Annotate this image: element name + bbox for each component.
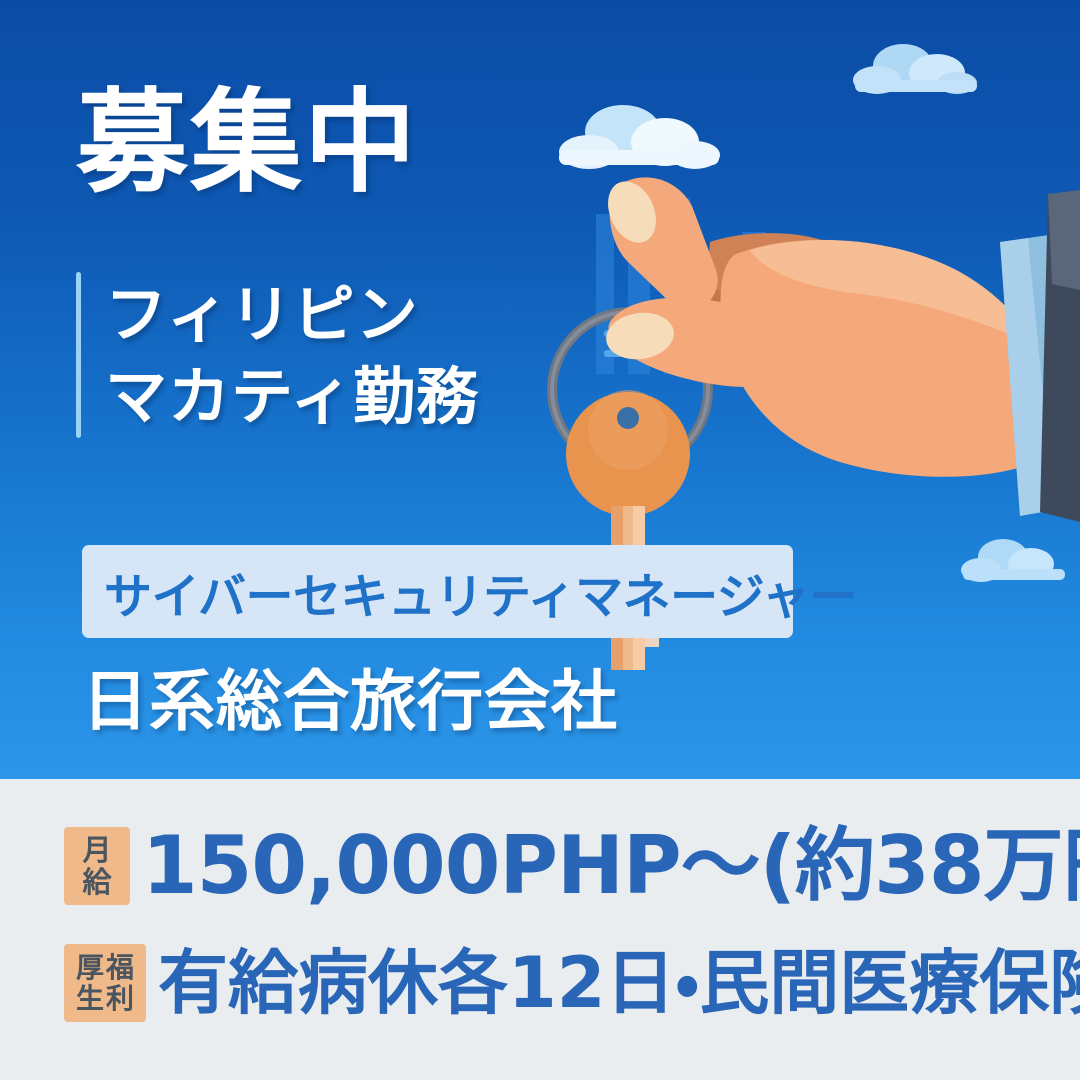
benefits-tag-char-2: 福 <box>106 952 134 983</box>
job-posting-poster: 募集中 フィリピン マカティ勤務 サイバーセキュリティマネージャー 日系総合旅行… <box>0 0 1080 1080</box>
location-line-country: フィリピン <box>105 274 479 356</box>
salary-value: 150,000PHP〜(約38万円) <box>142 826 1080 906</box>
salary-tag-char-2: 給 <box>82 866 111 898</box>
page-title: 募集中 <box>76 86 418 200</box>
benefits-value: 有給病休各12日・民間医療保険 <box>158 948 1080 1018</box>
salary-tag: 月 給 <box>64 827 130 905</box>
benefits-row: 厚 福 生 利 有給病休各12日・民間医療保険 <box>64 944 1080 1022</box>
cloud-top-right-icon <box>845 40 995 100</box>
hero-section: 募集中 フィリピン マカティ勤務 サイバーセキュリティマネージャー 日系総合旅行… <box>0 0 1080 779</box>
benefits-tag-grid: 厚 福 生 利 <box>76 952 134 1015</box>
salary-tag-char-1: 月 <box>82 834 111 866</box>
benefits-tag-char-4: 利 <box>106 983 134 1014</box>
job-title-band: サイバーセキュリティマネージャー <box>82 545 793 638</box>
company-name: 日系総合旅行会社 <box>82 648 618 744</box>
salary-row: 月 給 150,000PHP〜(約38万円) <box>64 826 1080 906</box>
location-subtitle: フィリピン マカティ勤務 <box>76 272 479 438</box>
hand-index-finger <box>599 174 718 311</box>
benefits-tag-char-1: 厚 <box>76 952 104 983</box>
accent-rule <box>76 272 81 438</box>
benefits-tag-char-3: 生 <box>76 983 104 1014</box>
benefits-tag: 厚 福 生 利 <box>64 944 146 1022</box>
location-line-city: マカティ勤務 <box>105 356 479 438</box>
job-title-text: サイバーセキュリティマネージャー <box>82 557 857 627</box>
location-subtitle-lines: フィリピン マカティ勤務 <box>105 272 479 438</box>
